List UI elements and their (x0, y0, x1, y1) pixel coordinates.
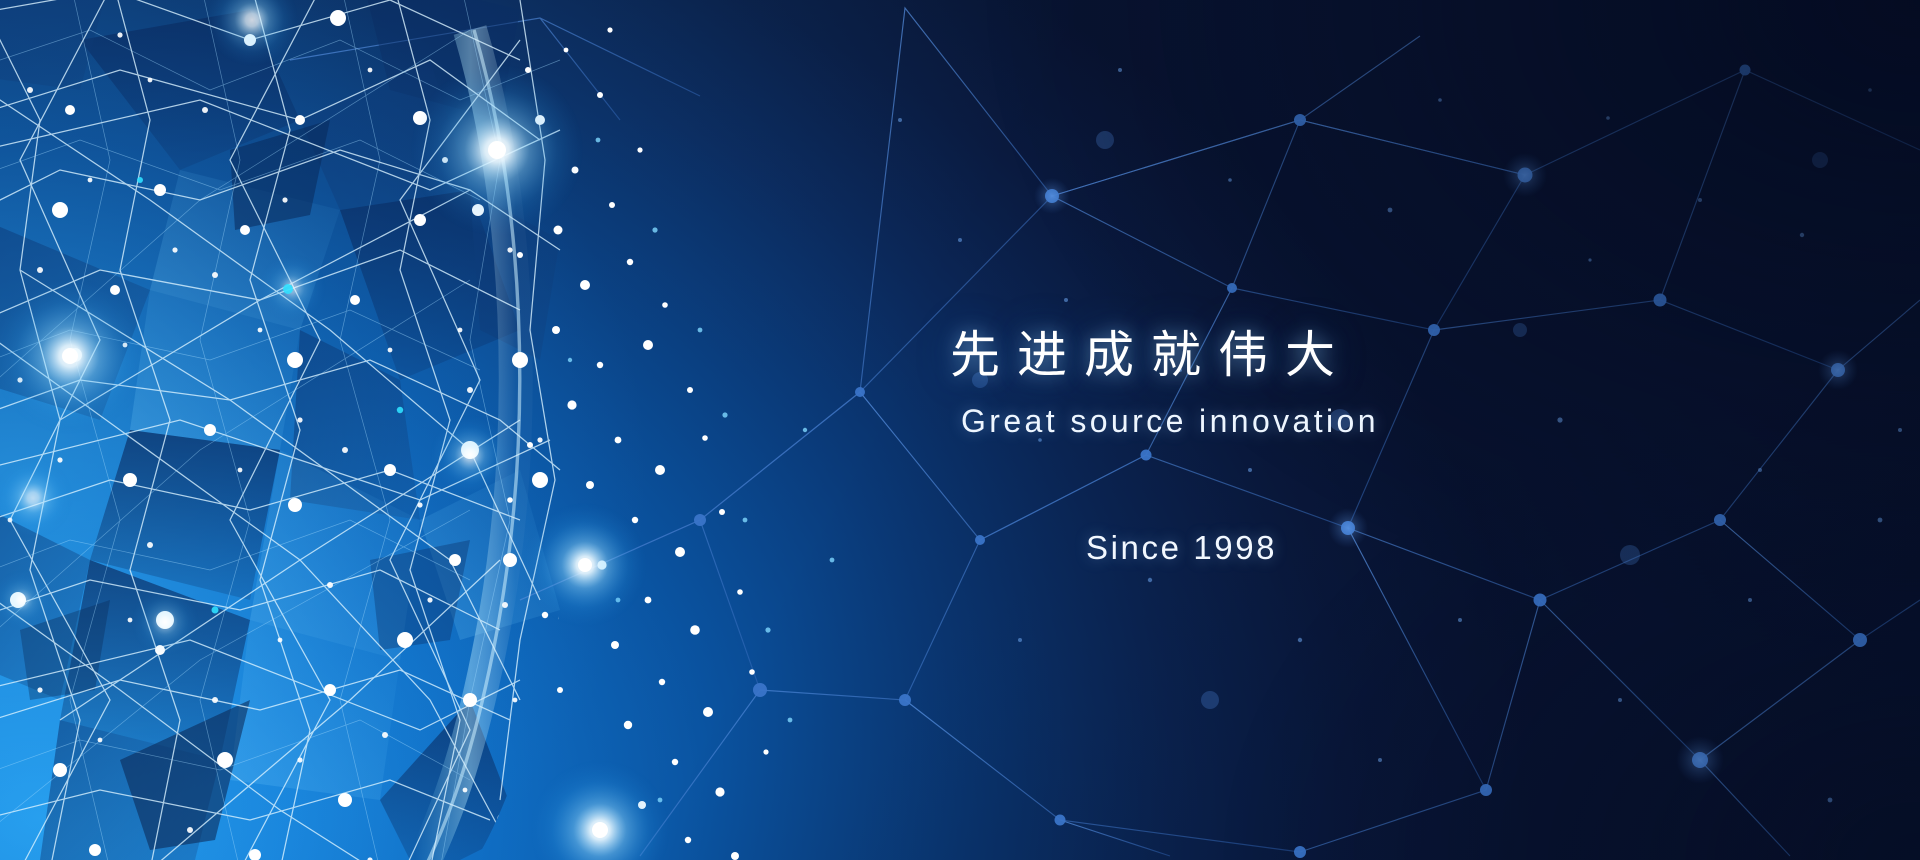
hero-banner: 先进成就伟大 Great source innovation Since 199… (0, 0, 1920, 860)
star-glow (0, 0, 670, 860)
star-glow-layer (0, 0, 1920, 860)
